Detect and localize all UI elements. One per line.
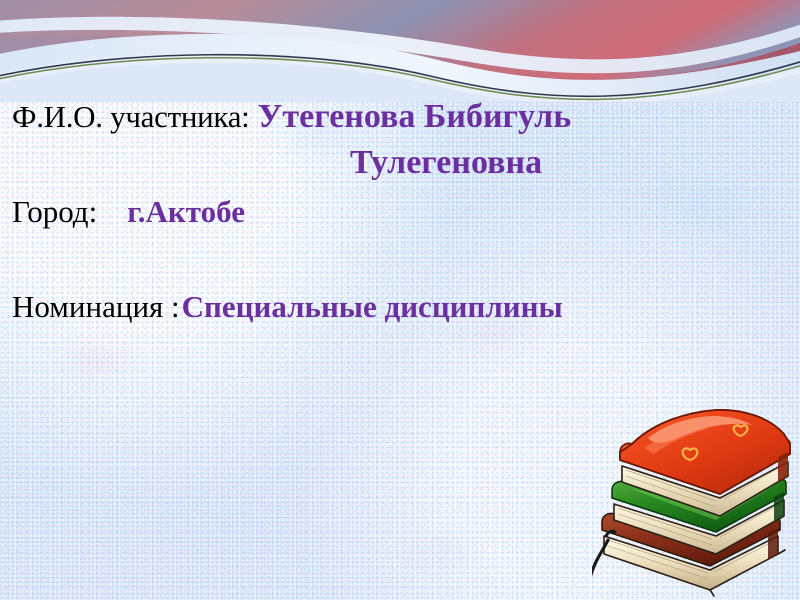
- nomination-line: Номинация :Специальные дисциплины: [12, 291, 563, 322]
- participant-name-line: Ф.И.О. участника:Утегенова Бибигуль: [12, 100, 571, 134]
- participant-name-line-continued: Тулегеновна: [350, 146, 542, 180]
- nomination-value: Специальные дисциплины: [182, 289, 563, 324]
- participant-patronymic-value: Тулегеновна: [350, 144, 542, 181]
- stack-of-books-illustration: [592, 404, 800, 600]
- presentation-slide: Ф.И.О. участника:Утегенова Бибигуль Туле…: [0, 0, 800, 600]
- participant-name-value: Утегенова Бибигуль: [257, 98, 571, 135]
- participant-name-label: Ф.И.О. участника:: [12, 99, 249, 134]
- city-value: г.Актобе: [127, 194, 245, 229]
- nomination-label: Номинация :: [12, 289, 180, 324]
- decorative-swoosh-banner: [0, 0, 800, 100]
- city-label: Город:: [12, 194, 97, 229]
- city-line: Город:г.Актобе: [12, 196, 245, 227]
